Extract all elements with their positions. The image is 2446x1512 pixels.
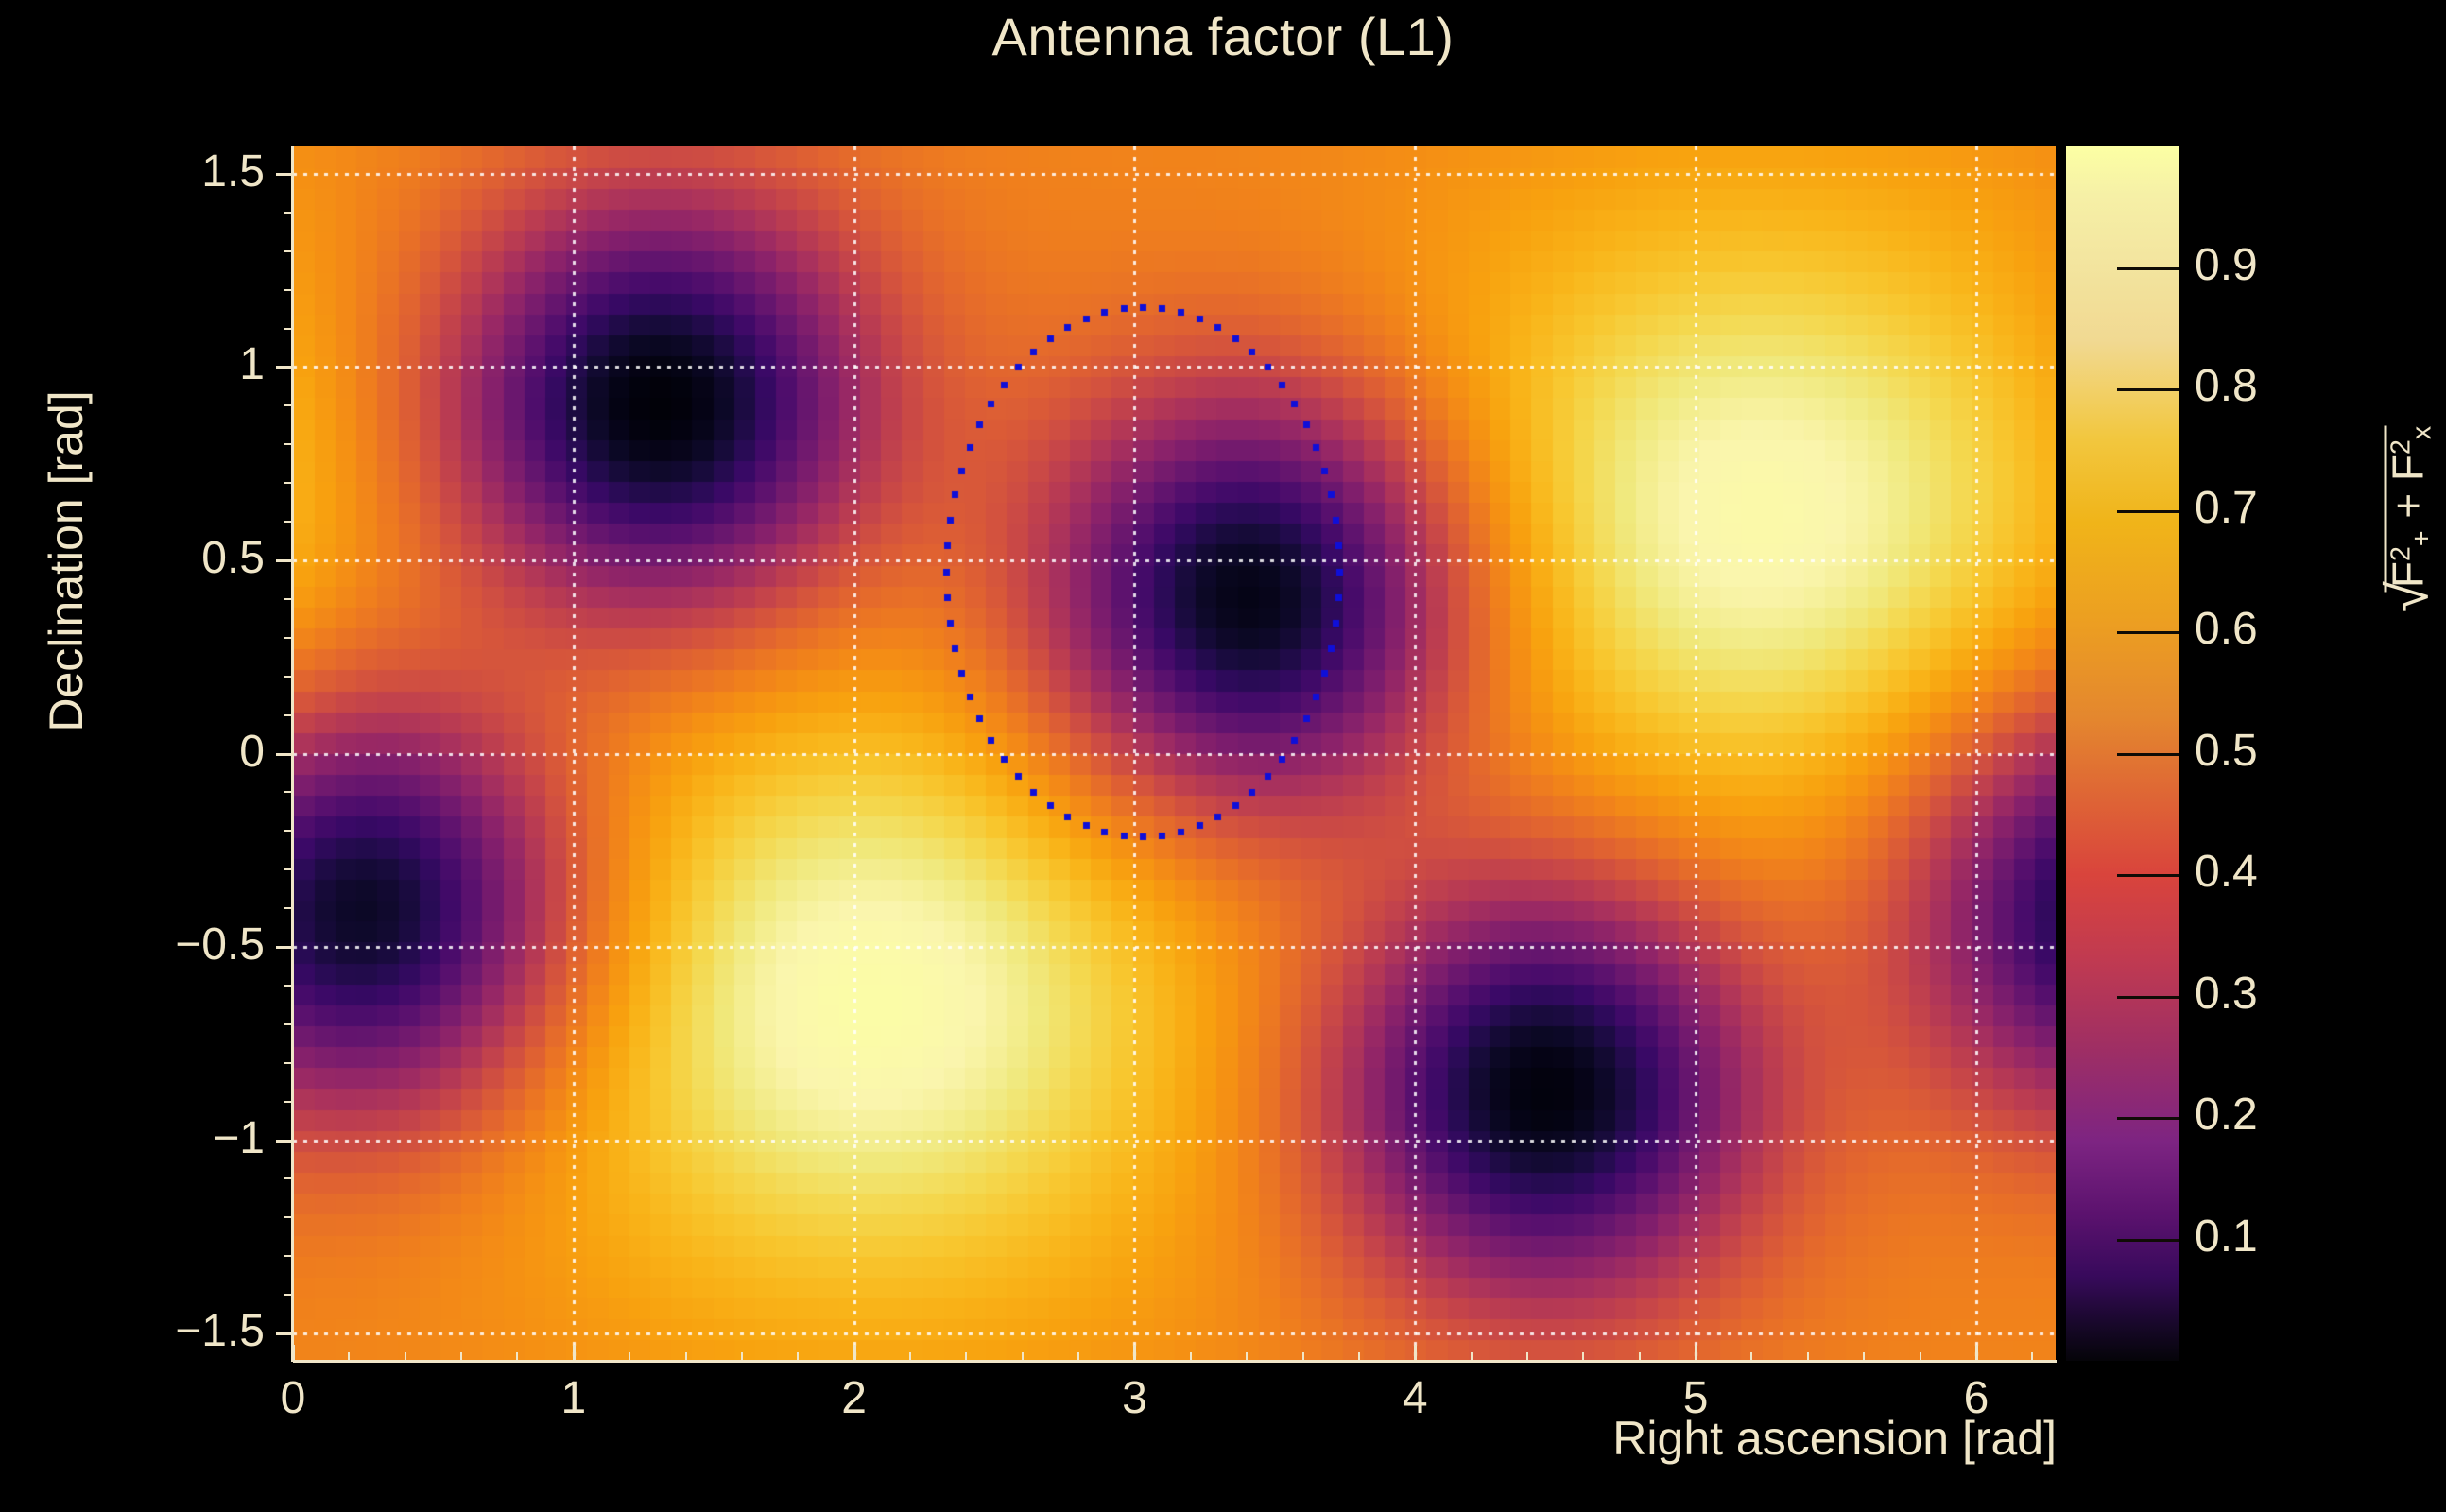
y-tick-major bbox=[276, 1140, 293, 1143]
x-tick-minor bbox=[685, 1352, 687, 1362]
plus-operator: + bbox=[2384, 481, 2433, 519]
colorbar-tick-label: 0.3 bbox=[2195, 968, 2258, 1020]
colorbar-tick-label: 0.7 bbox=[2195, 482, 2258, 534]
y-tick-major bbox=[276, 366, 293, 369]
x-tick-minor bbox=[1358, 1352, 1360, 1362]
x-tick-minor bbox=[1863, 1352, 1865, 1362]
y-tick-minor bbox=[284, 212, 293, 214]
term-f-plus: F2+ bbox=[2384, 531, 2433, 589]
x-tick-minor bbox=[741, 1352, 743, 1362]
colorbar-tick bbox=[2117, 267, 2179, 270]
x-axis-line bbox=[293, 1360, 2057, 1363]
x-tick-minor bbox=[516, 1352, 518, 1362]
y-tick-label: 1 bbox=[239, 338, 265, 390]
x-tick-minor bbox=[1750, 1352, 1752, 1362]
y-tick-minor bbox=[284, 985, 293, 987]
x-tick-minor bbox=[1302, 1352, 1304, 1362]
colorbar-tick-label: 0.6 bbox=[2195, 603, 2258, 655]
colorbar-tick bbox=[2117, 753, 2179, 756]
y-tick-minor bbox=[284, 1216, 293, 1218]
y-tick-label: −0.5 bbox=[175, 919, 265, 971]
y-tick-minor bbox=[284, 907, 293, 909]
x-tick-minor bbox=[348, 1352, 350, 1362]
sky-localization-contour bbox=[293, 146, 2056, 1361]
y-tick-minor bbox=[284, 676, 293, 678]
y-tick-minor bbox=[284, 791, 293, 793]
y-axis-title: Declination [rad] bbox=[39, 297, 94, 826]
colorbar-tick bbox=[2117, 631, 2179, 634]
x-tick-minor bbox=[1471, 1352, 1473, 1362]
colorbar-tick bbox=[2117, 388, 2179, 391]
y-tick-minor bbox=[284, 1177, 293, 1179]
x-tick-minor bbox=[797, 1352, 799, 1362]
colorbar-tick bbox=[2117, 510, 2179, 513]
y-tick-minor bbox=[284, 443, 293, 445]
y-tick-minor bbox=[284, 1255, 293, 1257]
colorbar-tick-label: 0.5 bbox=[2195, 725, 2258, 777]
x-tick-major bbox=[1695, 1345, 1697, 1362]
y-tick-minor bbox=[284, 714, 293, 716]
y-tick-minor bbox=[284, 289, 293, 291]
colorbar-tick bbox=[2117, 1239, 2179, 1242]
colorbar-tick bbox=[2117, 874, 2179, 877]
y-tick-minor bbox=[284, 1294, 293, 1296]
x-axis-title: Right ascension [rad] bbox=[1083, 1411, 2057, 1466]
x-tick-minor bbox=[909, 1352, 911, 1362]
y-tick-label: 1.5 bbox=[201, 146, 265, 198]
x-tick-label: 0 bbox=[281, 1372, 306, 1424]
colorbar-tick bbox=[2117, 996, 2179, 999]
y-tick-minor bbox=[284, 1062, 293, 1064]
x-tick-minor bbox=[1639, 1352, 1641, 1362]
colorbar-tick-label: 0.2 bbox=[2195, 1089, 2258, 1141]
x-tick-minor bbox=[1246, 1352, 1248, 1362]
y-tick-label: −1.5 bbox=[175, 1305, 265, 1357]
y-tick-minor bbox=[284, 1023, 293, 1025]
sqrt-expression: √ F2+ + F2x bbox=[2383, 426, 2438, 612]
heatmap-plot-area bbox=[293, 146, 2056, 1361]
x-tick-minor bbox=[1190, 1352, 1192, 1362]
x-tick-minor bbox=[1582, 1352, 1584, 1362]
y-tick-minor bbox=[284, 598, 293, 600]
radical-icon: √ bbox=[2381, 581, 2437, 612]
y-tick-minor bbox=[284, 1101, 293, 1103]
y-tick-minor bbox=[284, 482, 293, 484]
x-tick-minor bbox=[1920, 1352, 1921, 1362]
y-tick-minor bbox=[284, 637, 293, 639]
chart-root: Antenna factor (L1) −1.5−1−0.500.511.501… bbox=[0, 0, 2446, 1512]
x-tick-minor bbox=[1077, 1352, 1079, 1362]
y-tick-major bbox=[276, 946, 293, 949]
colorbar-tick-label: 0.4 bbox=[2195, 846, 2258, 898]
x-tick-minor bbox=[460, 1352, 462, 1362]
x-tick-major bbox=[1975, 1345, 1978, 1362]
y-tick-minor bbox=[284, 521, 293, 523]
x-tick-minor bbox=[1526, 1352, 1528, 1362]
y-tick-minor bbox=[284, 250, 293, 252]
x-tick-major bbox=[292, 1345, 295, 1362]
x-tick-major bbox=[1133, 1345, 1136, 1362]
x-tick-minor bbox=[1807, 1352, 1809, 1362]
x-tick-minor bbox=[629, 1352, 630, 1362]
y-tick-major bbox=[276, 559, 293, 562]
y-tick-minor bbox=[284, 404, 293, 406]
radical-bar-icon bbox=[2385, 426, 2387, 592]
y-tick-label: −1 bbox=[213, 1112, 265, 1164]
x-tick-minor bbox=[965, 1352, 967, 1362]
term-f-cross: F2x bbox=[2384, 426, 2433, 481]
colorbar-tick-label: 0.1 bbox=[2195, 1211, 2258, 1263]
x-tick-major bbox=[573, 1345, 576, 1362]
x-tick-major bbox=[853, 1345, 856, 1362]
y-tick-label: 0.5 bbox=[201, 532, 265, 584]
x-tick-label: 2 bbox=[841, 1372, 867, 1424]
y-tick-major bbox=[276, 1332, 293, 1335]
y-tick-major bbox=[276, 753, 293, 756]
x-tick-minor bbox=[1022, 1352, 1024, 1362]
x-tick-minor bbox=[405, 1352, 406, 1362]
y-tick-major bbox=[276, 173, 293, 176]
x-tick-major bbox=[1414, 1345, 1417, 1362]
y-tick-minor bbox=[284, 868, 293, 870]
colorbar-tick bbox=[2117, 1117, 2179, 1120]
colorbar-title: √ F2+ + F2x bbox=[2383, 273, 2438, 765]
y-tick-minor bbox=[284, 328, 293, 330]
colorbar-tick-label: 0.8 bbox=[2195, 360, 2258, 412]
colorbar-tick-label: 0.9 bbox=[2195, 239, 2258, 291]
x-tick-label: 1 bbox=[560, 1372, 586, 1424]
y-tick-minor bbox=[284, 830, 293, 832]
page-title: Antenna factor (L1) bbox=[0, 6, 2446, 67]
y-tick-label: 0 bbox=[239, 726, 265, 778]
x-tick-minor bbox=[2031, 1352, 2033, 1362]
